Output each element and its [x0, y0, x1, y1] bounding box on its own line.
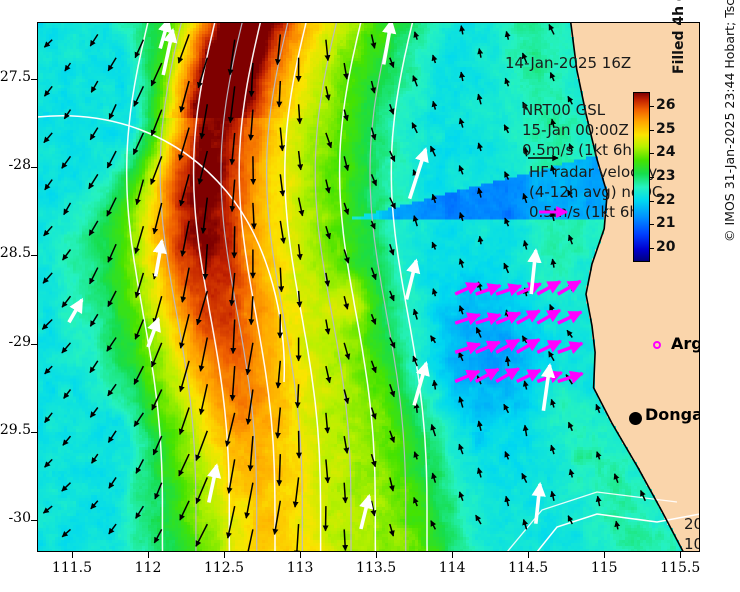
- figure-canvas: 14-Jan-2025 16Z NRT00 GSL 15-Jan 00:00Z …: [0, 0, 740, 592]
- y-tick-label: -28.5: [0, 245, 31, 261]
- colorbar-tick-label: 26: [656, 97, 675, 113]
- colorbar-tick: [650, 224, 654, 225]
- y-tick-label: -29: [0, 334, 31, 350]
- gsl-legend-line1: NRT00 GSL: [522, 100, 638, 120]
- map-plot-area[interactable]: 14-Jan-2025 16Z NRT00 GSL 15-Jan 00:00Z …: [37, 22, 700, 552]
- colorbar-tick: [650, 153, 654, 154]
- hf-radar-velocity-vectors: [455, 281, 582, 381]
- x-tick-mark: [680, 552, 681, 558]
- colorbar-tick-label: 24: [656, 144, 675, 160]
- colorbar-tick-label: 22: [656, 192, 675, 208]
- depth-contour-legend: 200m 1000m: [684, 514, 700, 552]
- y-tick-label: -29.5: [0, 422, 31, 438]
- colorbar-title: Filled 4h comp, p50, All Sats: [671, 0, 687, 74]
- colorbar-tick-label: 25: [656, 121, 675, 137]
- x-tick-label: 114.5: [498, 560, 558, 576]
- hf-reference-arrow-icon: [537, 206, 577, 218]
- colorbar-tick-label: 23: [656, 168, 675, 184]
- colorbar-tick: [650, 106, 654, 107]
- colorbar-tick: [650, 201, 654, 202]
- colorbar-tick-label: 20: [656, 239, 675, 255]
- x-tick-label: 112: [118, 560, 178, 576]
- y-tick-label: -28: [0, 157, 31, 173]
- dongara-label: Dongara: [645, 405, 700, 424]
- dongara-marker-icon: [629, 412, 642, 425]
- date-stamp: 14-Jan-2025 16Z: [505, 54, 631, 72]
- y-tick-label: -27.5: [0, 69, 31, 85]
- colorbar-tick-label: 21: [656, 215, 675, 231]
- y-tick-mark: [31, 432, 37, 433]
- x-tick-label: 115.5: [650, 560, 710, 576]
- y-tick-label: -30: [0, 510, 31, 526]
- x-tick-label: 112.5: [194, 560, 254, 576]
- x-tick-mark: [528, 552, 529, 558]
- gsl-legend-line2: 15-Jan 00:00Z: [522, 120, 638, 140]
- gsl-legend-block: NRT00 GSL 15-Jan 00:00Z 0.5m/s (1kt 6h): [522, 100, 638, 160]
- x-tick-label: 115: [574, 560, 634, 576]
- depth-label-200m: 200m: [684, 514, 700, 534]
- colorbar: 20212223242526: [633, 92, 650, 262]
- y-tick-mark: [31, 167, 37, 168]
- x-tick-mark: [604, 552, 605, 558]
- y-tick-mark: [31, 255, 37, 256]
- credit-text: © IMOS 31-Jan-2025 23:44 Hobart; Tscale=…: [722, 0, 737, 242]
- y-tick-mark: [31, 520, 37, 521]
- x-tick-mark: [452, 552, 453, 558]
- x-tick-mark: [72, 552, 73, 558]
- x-tick-mark: [376, 552, 377, 558]
- x-tick-label: 113: [270, 560, 330, 576]
- y-tick-mark: [31, 344, 37, 345]
- colorbar-tick: [650, 130, 654, 131]
- drifter-track-arrows: [69, 22, 550, 529]
- x-tick-mark: [300, 552, 301, 558]
- x-tick-mark: [148, 552, 149, 558]
- depth-label-1000m: 1000m: [684, 534, 700, 552]
- y-tick-mark: [31, 79, 37, 80]
- colorbar-tick: [650, 177, 654, 178]
- x-tick-label: 114: [422, 560, 482, 576]
- x-tick-label: 111.5: [42, 560, 102, 576]
- colorbar-gradient: [633, 92, 650, 262]
- colorbar-tick: [650, 248, 654, 249]
- argo-label: Argo: [671, 334, 700, 353]
- x-tick-label: 113.5: [346, 560, 406, 576]
- x-tick-mark: [224, 552, 225, 558]
- argo-marker-icon: [653, 341, 661, 349]
